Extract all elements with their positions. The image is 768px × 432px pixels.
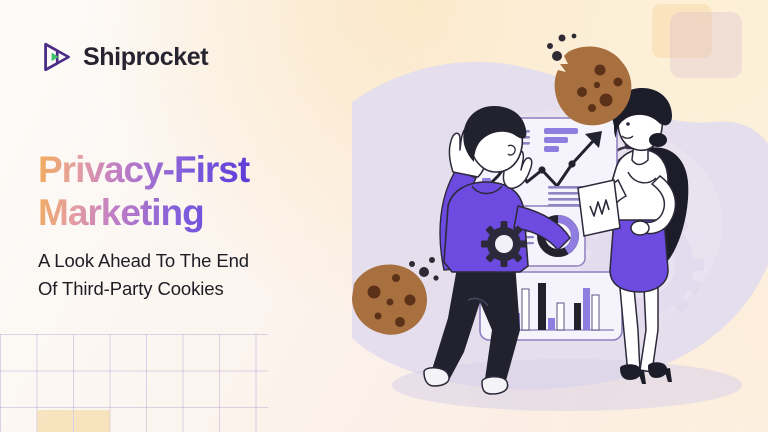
decorative-grid: [0, 334, 268, 432]
grid-cell-filled: [74, 410, 110, 432]
gear-held-in-hand: [481, 221, 527, 267]
man-shoe-left: [424, 368, 449, 386]
clipboard: [578, 180, 620, 236]
page-subtitle: A Look Ahead To The End Of Third-Party C…: [38, 247, 338, 303]
brand-logo[interactable]: Shiprocket: [40, 40, 208, 74]
headline-line-1: Privacy-First: [38, 149, 249, 190]
shiprocket-play-logo-icon: [40, 40, 74, 74]
page-title: Privacy-First Marketing: [38, 148, 368, 234]
brand-wordmark: Shiprocket: [83, 43, 208, 72]
grid-cell-filled: [37, 410, 73, 432]
hero-banner: Shiprocket Privacy-First Marketing A Loo…: [0, 0, 768, 432]
marketing-analytics-people-illustration: [352, 0, 768, 432]
man-shoe-right: [482, 377, 508, 394]
subtitle-line-1: A Look Ahead To The End: [38, 250, 249, 271]
subtitle-line-2: Of Third-Party Cookies: [38, 278, 224, 299]
headline-line-2: Marketing: [38, 192, 204, 233]
